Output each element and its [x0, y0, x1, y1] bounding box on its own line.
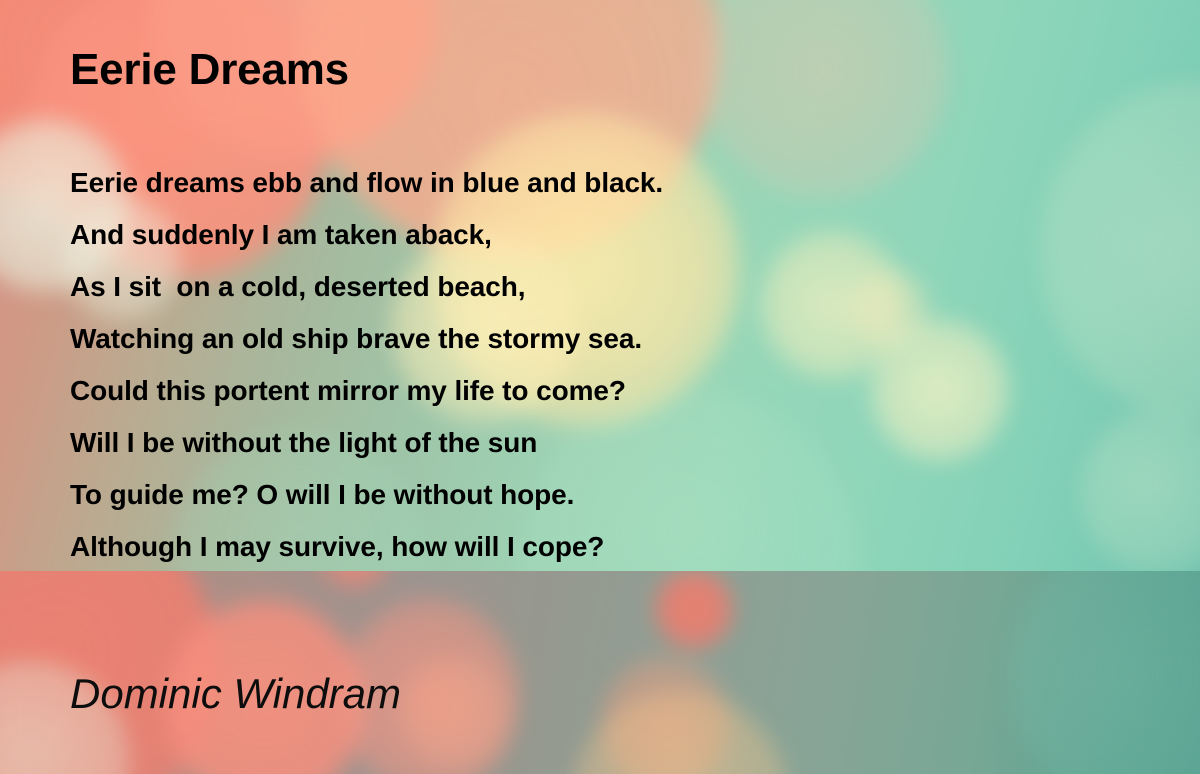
- poem-text-block: Eerie dreams ebb and flow in blue and bl…: [70, 157, 1130, 573]
- poem-author-byline: Dominic Windram: [70, 673, 401, 715]
- poem-line: Eerie dreams ebb and flow in blue and bl…: [70, 157, 1130, 209]
- poem-line: Could this portent mirror my life to com…: [70, 365, 1130, 417]
- poem-line: And suddenly I am taken aback,: [70, 209, 1130, 261]
- poem-line: To guide me? O will I be without hope.: [70, 469, 1130, 521]
- poem-content: Eerie Dreams Eerie dreams ebb and flow i…: [0, 0, 1200, 774]
- poem-line: Will I be without the light of the sun: [70, 417, 1130, 469]
- poem-line: Watching an old ship brave the stormy se…: [70, 313, 1130, 365]
- poem-line: Although I may survive, how will I cope?: [70, 521, 1130, 573]
- poem-card: Eerie Dreams Eerie dreams ebb and flow i…: [0, 0, 1200, 774]
- poem-title: Eerie Dreams: [70, 48, 349, 92]
- poem-line: As I sit on a cold, deserted beach,: [70, 261, 1130, 313]
